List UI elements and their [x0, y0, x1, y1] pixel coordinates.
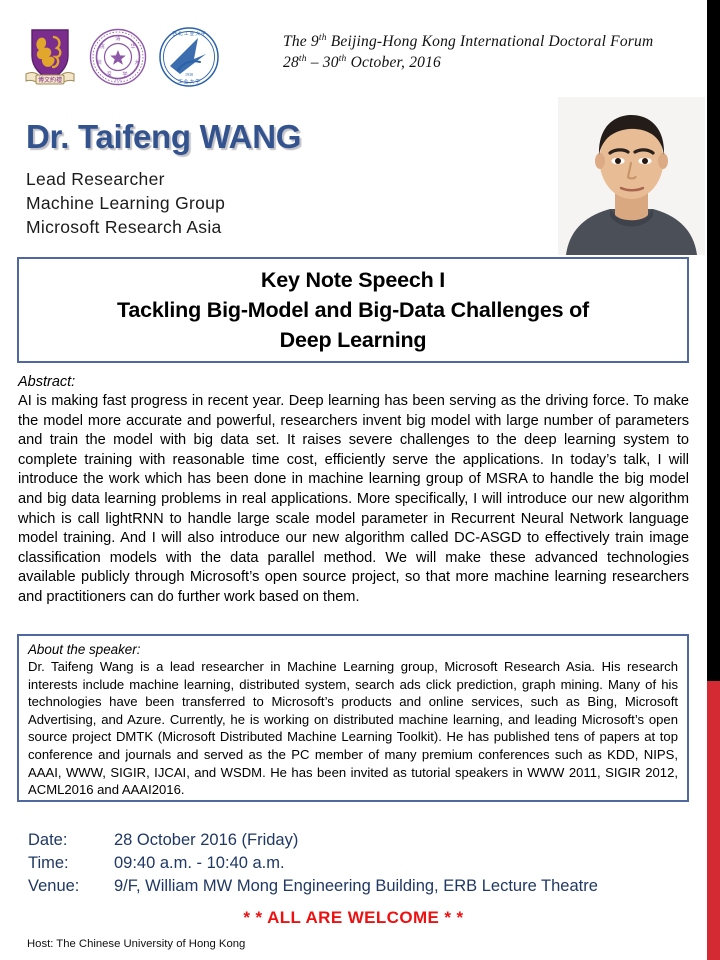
forum-title-suffix: Beijing-Hong Kong International Doctoral…: [327, 33, 654, 50]
right-strip-red-segment: [707, 681, 720, 960]
svg-text:西 北 工 业 大 学: 西 北 工 业 大 学: [172, 30, 206, 37]
time-label: Time:: [28, 852, 114, 875]
detail-row-venue: Venue: 9/F, William MW Mong Engineering …: [28, 875, 598, 898]
forum-date-end-ordinal: th: [339, 54, 347, 64]
forum-title: The 9th Beijing-Hong Kong International …: [283, 31, 653, 73]
svg-text:清: 清: [115, 34, 120, 42]
poster-header: 博文約禮 清 华 大 学 深 圳: [0, 0, 707, 96]
logo-row: 博文約禮 清 华 大 学 深 圳: [22, 26, 220, 93]
speaker-group: Machine Learning Group: [26, 191, 225, 215]
svg-text:博文約禮: 博文約禮: [38, 76, 62, 84]
forum-date-line: 28th – 30th October, 2016: [283, 52, 653, 73]
svg-text:院: 院: [99, 42, 105, 50]
forum-date-start: 28: [283, 54, 299, 71]
event-details: Date: 28 October 2016 (Friday) Time: 09:…: [28, 829, 598, 898]
speaker-name: Dr. Taifeng WANG: [26, 118, 301, 156]
time-value: 09:40 a.m. - 10:40 a.m.: [114, 852, 285, 875]
speaker-role: Lead Researcher: [26, 167, 225, 191]
detail-row-time: Time: 09:40 a.m. - 10:40 a.m.: [28, 852, 598, 875]
keynote-line-3: Deep Learning: [117, 325, 589, 355]
about-speaker-body: Dr. Taifeng Wang is a lead researcher in…: [28, 658, 678, 799]
svg-text:学: 学: [122, 70, 127, 78]
svg-text:华: 华: [130, 42, 135, 50]
host-line: Host: The Chinese University of Hong Kon…: [27, 938, 245, 950]
welcome-note: * * ALL ARE WELCOME * *: [0, 908, 707, 928]
abstract-body: AI is making fast progress in recent yea…: [18, 392, 689, 608]
keynote-title-box: Key Note Speech I Tackling Big-Model and…: [17, 257, 689, 363]
forum-date-start-ordinal: th: [299, 54, 307, 64]
keynote-title: Key Note Speech I Tackling Big-Model and…: [111, 265, 595, 355]
svg-text:1938: 1938: [185, 72, 193, 77]
svg-text:深: 深: [106, 70, 111, 78]
svg-text:圳: 圳: [96, 58, 101, 66]
forum-title-ordinal: th: [319, 33, 327, 43]
venue-value: 9/F, William MW Mong Engineering Buildin…: [114, 875, 598, 898]
poster-page: 博文約禮 清 华 大 学 深 圳: [0, 0, 707, 960]
detail-row-date: Date: 28 October 2016 (Friday): [28, 829, 598, 852]
about-speaker-box: About the speaker: Dr. Taifeng Wang is a…: [17, 634, 689, 802]
date-label: Date:: [28, 829, 114, 852]
northwestern-polytechnical-logo: 西 北 工 业 大 学 工 业 大 学 1938: [158, 26, 220, 93]
abstract-heading: Abstract:: [18, 374, 75, 390]
cuhk-logo: 博文約禮: [22, 26, 78, 93]
tsinghua-logo: 清 华 大 学 深 圳 院 1911: [89, 28, 147, 91]
right-strip-dark-segment: [707, 0, 720, 681]
forum-date-month-year: October, 2016: [347, 54, 442, 71]
keynote-line-2: Tackling Big-Model and Big-Data Challeng…: [117, 295, 589, 325]
date-value: 28 October 2016 (Friday): [114, 829, 298, 852]
svg-text:大: 大: [134, 58, 139, 66]
forum-title-line1: The 9th Beijing-Hong Kong International …: [283, 31, 653, 52]
speaker-affiliation: Lead Researcher Machine Learning Group M…: [26, 167, 225, 239]
speaker-photo: [558, 97, 705, 255]
forum-date-separator: – 30: [307, 54, 339, 71]
speaker-organization: Microsoft Research Asia: [26, 215, 225, 239]
right-edge-strip: [707, 0, 720, 960]
svg-text:工 业 大 学: 工 业 大 学: [178, 78, 200, 85]
svg-text:1911: 1911: [114, 77, 122, 82]
venue-label: Venue:: [28, 875, 114, 898]
forum-title-prefix: The 9: [283, 33, 319, 50]
keynote-line-1: Key Note Speech I: [117, 265, 589, 295]
about-speaker-heading: About the speaker:: [28, 642, 678, 657]
